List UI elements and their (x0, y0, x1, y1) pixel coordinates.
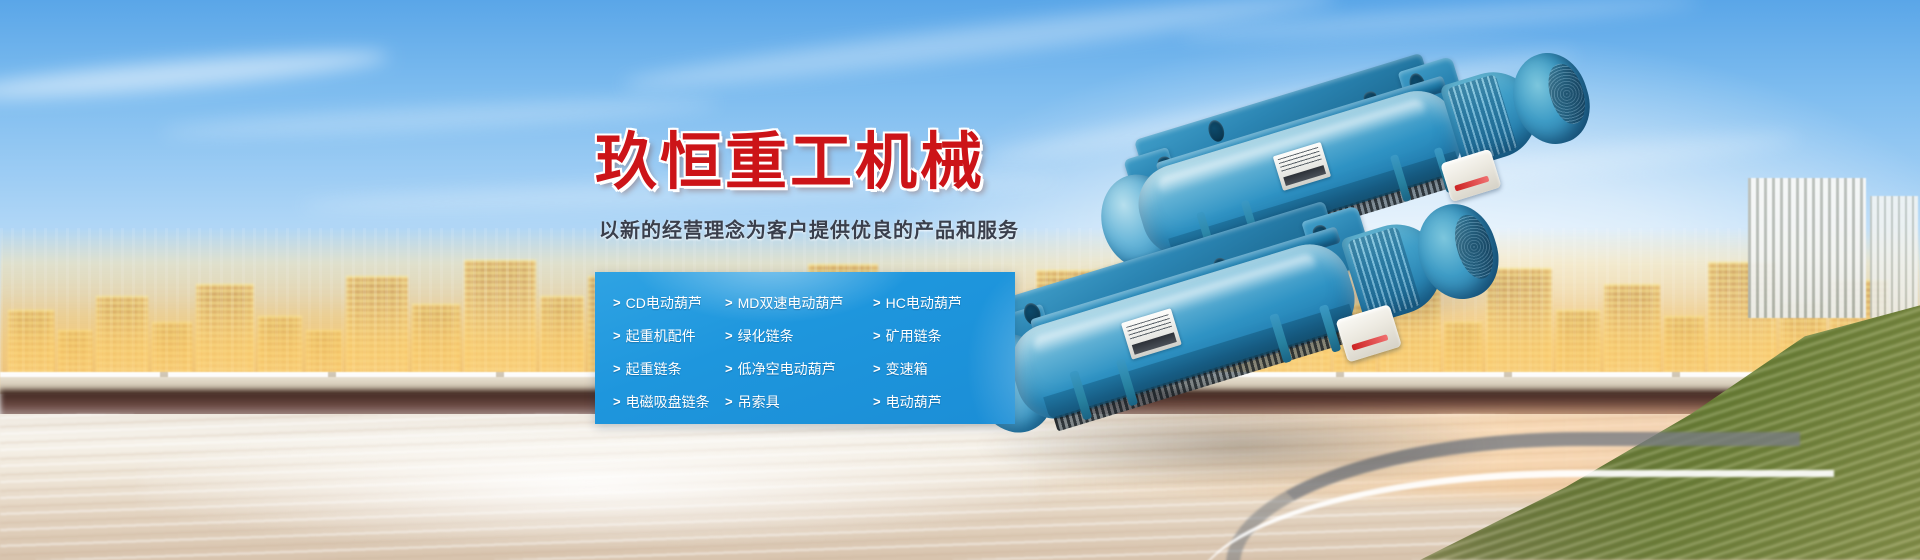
product-link[interactable]: >MD双速电动葫芦 (725, 293, 873, 313)
highrise-building-icon (1748, 178, 1866, 318)
product-links-grid: >CD电动葫芦>MD双速电动葫芦>HC电动葫芦>起重机配件>绿化链条>矿用链条>… (595, 272, 1015, 424)
product-link-label: 起重机配件 (626, 326, 696, 346)
chevron-right-icon: > (873, 295, 881, 310)
promotional-banner: 玖恒重工机械 以新的经营理念为客户提供优良的产品和服务 >CD电动葫芦>MD双速… (0, 0, 1920, 560)
chevron-right-icon: > (725, 328, 733, 343)
product-link[interactable]: >绿化链条 (725, 326, 873, 346)
chevron-right-icon: > (873, 361, 881, 376)
headline-block: 玖恒重工机械 以新的经营理念为客户提供优良的产品和服务 (595, 132, 1065, 243)
product-link[interactable]: >电磁吸盘链条 (613, 392, 725, 412)
chevron-right-icon: > (873, 394, 881, 409)
product-link-label: MD双速电动葫芦 (738, 293, 844, 313)
product-link[interactable]: >变速箱 (873, 359, 1015, 379)
product-link-label: 电动葫芦 (886, 392, 942, 412)
chevron-right-icon: > (613, 295, 621, 310)
product-link-label: 矿用链条 (886, 326, 942, 346)
chevron-right-icon: > (613, 361, 621, 376)
chevron-right-icon: > (613, 394, 621, 409)
product-link-label: CD电动葫芦 (626, 293, 702, 313)
chevron-right-icon: > (613, 328, 621, 343)
product-link-label: 低净空电动葫芦 (738, 359, 836, 379)
highrise-building-icon (1870, 196, 1918, 318)
page-title: 玖恒重工机械 (595, 132, 1065, 194)
product-link[interactable]: >CD电动葫芦 (613, 293, 725, 313)
product-link[interactable]: >电动葫芦 (873, 392, 1015, 412)
product-link[interactable]: >矿用链条 (873, 326, 1015, 346)
product-link[interactable]: >低净空电动葫芦 (725, 359, 873, 379)
product-link-label: 绿化链条 (738, 326, 794, 346)
product-link[interactable]: >HC电动葫芦 (873, 293, 1015, 313)
chevron-right-icon: > (725, 295, 733, 310)
product-link-label: 变速箱 (886, 359, 928, 379)
product-links-panel: >CD电动葫芦>MD双速电动葫芦>HC电动葫芦>起重机配件>绿化链条>矿用链条>… (595, 272, 1015, 424)
product-link-label: 电磁吸盘链条 (626, 392, 710, 412)
product-link-label: HC电动葫芦 (886, 293, 962, 313)
product-link-label: 起重链条 (626, 359, 682, 379)
chevron-right-icon: > (725, 394, 733, 409)
product-link[interactable]: >起重链条 (613, 359, 725, 379)
product-link-label: 吊索具 (738, 392, 780, 412)
page-subtitle: 以新的经营理念为客户提供优良的产品和服务 (599, 214, 1065, 243)
road-highlight (140, 424, 1040, 544)
chevron-right-icon: > (725, 361, 733, 376)
product-link[interactable]: >起重机配件 (613, 326, 725, 346)
product-link[interactable]: >吊索具 (725, 392, 873, 412)
chevron-right-icon: > (873, 328, 881, 343)
